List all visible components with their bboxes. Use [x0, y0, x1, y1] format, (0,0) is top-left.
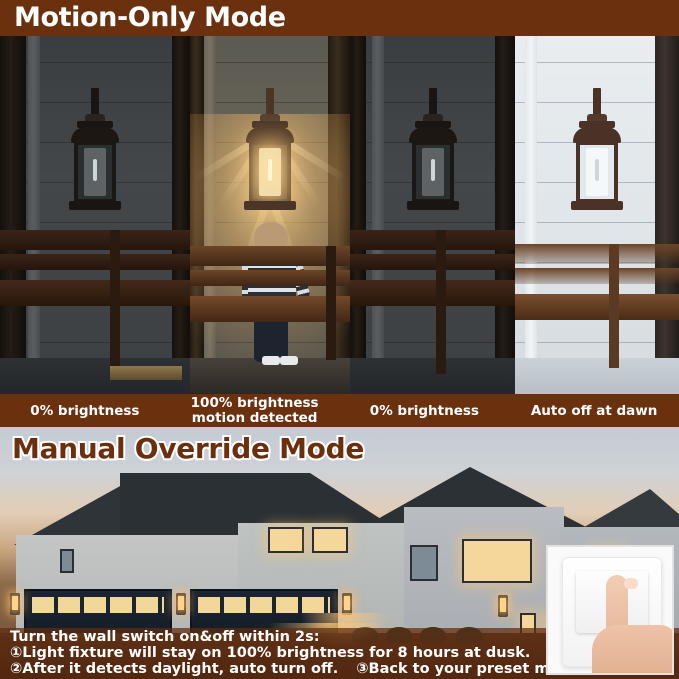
motion-only-section: Motion-Only Mode: [0, 0, 679, 427]
motion-caption-bar: 0% brightness 100% brightness motion det…: [0, 394, 679, 427]
lantern-bulb: [268, 159, 272, 181]
wall-lantern-daylight: [567, 88, 627, 224]
garage-window-row: [32, 597, 164, 613]
fingernail: [624, 578, 638, 589]
instruction-line-3a: ②After it detects daylight, auto turn of…: [10, 661, 338, 677]
lantern-bulb: [431, 159, 435, 181]
gable-vent: [60, 549, 74, 573]
coach-light: [498, 595, 508, 617]
instruction-line-2: ①Light fixture will stay on 100% brightn…: [10, 645, 530, 661]
caption-1-line1: 100% brightness: [191, 395, 319, 411]
caption-0: 0% brightness: [0, 394, 170, 427]
panel-night-lamp-off: [0, 36, 190, 394]
panel-daylight-auto-off: [515, 36, 679, 394]
coach-light: [10, 593, 20, 615]
lantern-body: [412, 141, 454, 203]
lantern-base: [407, 201, 459, 210]
caption-1-line2: motion detected: [192, 410, 318, 426]
porch-bench: [190, 240, 350, 360]
lantern-base: [571, 201, 623, 210]
caption-0-line1: 0% brightness: [30, 404, 139, 418]
wall-lantern-off: [65, 88, 125, 224]
wall-lantern-on: [240, 88, 300, 224]
porch-step: [110, 366, 182, 380]
upper-window-lit: [462, 539, 532, 583]
hand-pressing-switch: [592, 575, 674, 675]
lantern-body: [249, 141, 291, 203]
lantern-base: [244, 201, 296, 210]
instruction-line-3: ②After it detects daylight, auto turn of…: [10, 661, 585, 677]
coach-light: [176, 593, 186, 615]
porch-bench: [515, 238, 679, 368]
lantern-bulb: [595, 159, 599, 181]
upper-window: [312, 527, 348, 553]
caption-3-line1: Auto off at dawn: [531, 404, 658, 418]
caption-1: 100% brightness motion detected: [170, 394, 340, 427]
lantern-body: [74, 141, 116, 203]
caption-1-text: 100% brightness motion detected: [191, 396, 319, 426]
panel-lamp-off-again: [350, 36, 515, 394]
caption-2-line1: 0% brightness: [370, 404, 479, 418]
lantern-body: [576, 141, 618, 203]
upper-window: [268, 527, 304, 553]
coach-light: [342, 593, 352, 615]
caption-2: 0% brightness: [340, 394, 510, 427]
manual-override-title: Manual Override Mode: [12, 432, 364, 465]
motion-only-title: Motion-Only Mode: [14, 2, 286, 33]
lantern-base: [69, 201, 121, 210]
palm: [592, 625, 674, 675]
porch-bench: [0, 224, 190, 374]
garage-window-row: [198, 597, 330, 613]
lantern-bulb: [93, 159, 97, 181]
porch-bench: [350, 224, 515, 374]
motion-panel-strip: [0, 36, 679, 394]
instruction-line-1: Turn the wall switch on&off within 2s:: [10, 629, 320, 645]
wall-switch-inset: [546, 545, 674, 675]
panel-lamp-on-motion: [190, 36, 350, 394]
wall-lantern-off: [403, 88, 463, 224]
product-infographic: Motion-Only Mode: [0, 0, 679, 679]
upper-window-dark: [410, 545, 438, 581]
caption-3: Auto off at dawn: [509, 394, 679, 427]
motion-only-header-bar: Motion-Only Mode: [0, 0, 679, 36]
